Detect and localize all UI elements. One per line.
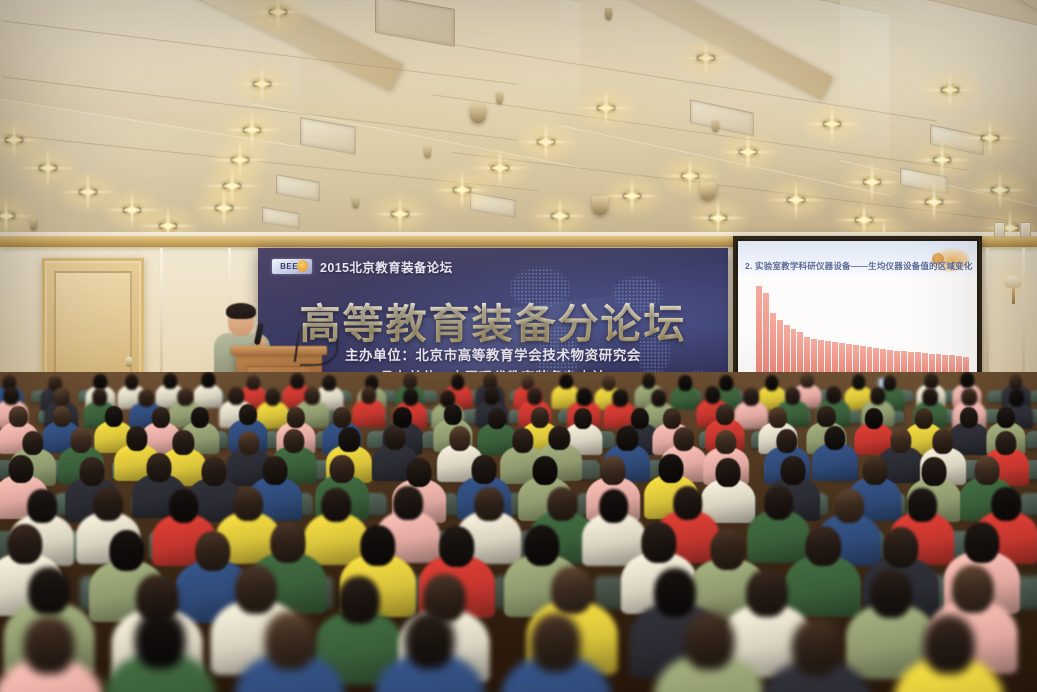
ceiling-vent (276, 174, 320, 202)
audience-member-head (403, 373, 417, 389)
audience-member-head (577, 388, 593, 406)
audience-member-head (964, 522, 999, 563)
audience-member-head (805, 526, 840, 567)
ceiling-sprinkler (424, 146, 431, 158)
audience-member-head (1009, 389, 1025, 407)
audience-member-head (451, 374, 465, 390)
audience-member (895, 615, 1004, 692)
conference-photo-scene: BEEE 2015北京教育装备论坛 高等教育装备分论坛 主办单位：北京市高等教育… (0, 0, 1037, 692)
audience-member-head (163, 373, 177, 389)
audience-member-head (548, 487, 578, 521)
audience-member-head (321, 488, 351, 522)
audience-member-head (746, 569, 788, 618)
audience-member-head (551, 566, 593, 615)
audience-member-head (9, 406, 27, 427)
audience-member-head (862, 456, 887, 485)
chart-bar (791, 329, 797, 377)
audience-member-head (530, 613, 581, 672)
audience-member-head (659, 454, 684, 483)
audience-member-head (870, 387, 886, 405)
audience-member-head (138, 389, 154, 407)
audience-member-head (617, 426, 638, 451)
audience-member-head (235, 565, 277, 614)
audience-member-head (147, 453, 172, 482)
audience-member-head (404, 611, 455, 670)
ceiling-sprinkler (352, 196, 359, 208)
audience-member-head (7, 524, 42, 565)
audience-member-head (651, 389, 667, 407)
ceiling-speaker-dome (592, 196, 608, 215)
audience-member-head (710, 529, 745, 570)
audience-member-head (339, 427, 360, 452)
audience-member (655, 612, 764, 692)
audience-member (501, 613, 610, 692)
audience-member-head (512, 428, 533, 453)
audience-member-head (922, 457, 947, 486)
ceiling-speaker-dome (700, 182, 716, 201)
audience-member-head (890, 428, 911, 453)
ceiling (0, 0, 1037, 250)
audience-member-head (93, 487, 123, 521)
audience-member-head (70, 428, 91, 453)
audience-member-head (974, 456, 999, 485)
audience-member-head (705, 386, 721, 404)
audience-member-head (824, 426, 845, 451)
audience-member-head (932, 429, 953, 454)
audience-area (0, 372, 1037, 692)
audience-member-head (601, 456, 626, 485)
wall-sconce-arm (1012, 288, 1015, 304)
audience-member-head (991, 487, 1021, 521)
audience-member-head (716, 404, 734, 425)
audience-member-head (715, 458, 740, 487)
audience-member-head (785, 387, 801, 405)
audience-member-head (483, 373, 497, 389)
audience-member-head (549, 426, 570, 451)
audience-member-head (612, 389, 628, 407)
audience-member-head (769, 407, 787, 428)
audience-member-head (673, 427, 694, 452)
chart-bar (770, 313, 776, 377)
audience-member-head (135, 611, 186, 670)
banner-event-name: 2015北京教育装备论坛 (320, 257, 453, 276)
audience-member-head (333, 407, 351, 428)
wall-sconce-light (1004, 276, 1022, 288)
audience-member-head (961, 388, 977, 406)
audience-member-head (361, 386, 377, 404)
audience-member-head (104, 406, 122, 427)
door-handle[interactable] (126, 357, 132, 367)
audience-member-head (834, 489, 864, 523)
wall-switch-plate[interactable] (1020, 222, 1031, 237)
audience-member-head (560, 374, 574, 390)
chart-bar (797, 332, 803, 377)
ceiling-sprinkler (605, 8, 612, 20)
audience-member-head (532, 456, 557, 485)
audience-member-head (780, 456, 805, 485)
audience-member-head (924, 615, 975, 674)
audience-member-head (642, 373, 656, 389)
audience-member-head (79, 457, 104, 486)
audience-member-head (109, 530, 144, 571)
audience-member-head (263, 456, 288, 485)
audience-member-head (997, 407, 1015, 428)
audience-member-head (439, 526, 474, 567)
audience-member-head (403, 388, 419, 406)
chart-bar (804, 337, 810, 377)
speaker-glasses-icon (230, 317, 252, 323)
wall-switch-plate[interactable] (994, 222, 1005, 237)
audience-member-head (125, 374, 139, 390)
audience-member-head (484, 387, 500, 405)
audience-member (762, 618, 871, 692)
audience-member-head (3, 387, 19, 405)
audience-member-head (169, 489, 199, 523)
chart-bar (756, 286, 762, 377)
projection-screen: 2. 实验室教学科研仪器设备——生均仪器设备值的区域变化 (738, 241, 977, 389)
audience-member-head (27, 489, 57, 523)
audience-member-head (270, 522, 305, 563)
audience-member-head (53, 388, 69, 406)
audience-member-head (283, 429, 304, 454)
audience-member (0, 616, 104, 692)
audience-member-head (527, 387, 543, 405)
audience-member-head (9, 455, 34, 484)
audience-member-head (924, 373, 938, 389)
audience-member-head (907, 488, 937, 522)
audience-member-head (360, 525, 395, 566)
audience-member-head (870, 569, 912, 618)
audience-member-head (394, 486, 424, 520)
banner-top-row: BEEE 2015北京教育装备论坛 (272, 257, 453, 276)
audience-member-head (384, 426, 405, 451)
audience-member-head (449, 426, 470, 451)
chart-bar (763, 293, 769, 377)
logo-text: BEEE (280, 262, 304, 271)
audience-member-head (883, 527, 918, 568)
ceiling-sprinkler (496, 92, 503, 104)
chart-bar (777, 320, 783, 377)
audience-member-head (228, 387, 244, 405)
audience-member-head (488, 408, 506, 429)
audience-member-head (715, 430, 736, 455)
audience-member-head (28, 567, 70, 616)
audience-member-head (678, 375, 692, 391)
slide-bar-chart (756, 281, 969, 377)
ceiling-vent (470, 192, 516, 218)
audience-member-head (330, 455, 355, 484)
audience-member-head (472, 455, 497, 484)
audience-member-head (684, 612, 735, 671)
audience-member-head (791, 618, 842, 677)
audience-member-head (914, 408, 932, 429)
audience-member-head (776, 429, 797, 454)
audience-member-head (24, 616, 75, 675)
ceiling-sprinkler (30, 218, 37, 230)
audience-member-head (173, 430, 194, 455)
audience-member-head (1009, 374, 1023, 390)
audience-member-head (961, 372, 975, 388)
audience-member-head (53, 406, 71, 427)
audience-member-head (443, 404, 461, 425)
audience-member-head (641, 522, 676, 563)
projection-screen-frame: 2. 实验室教学科研仪器设备——生均仪器设备值的区域变化 (733, 236, 982, 394)
audience-member-head (995, 431, 1016, 456)
audience-member-head (238, 431, 259, 456)
audience-member-head (952, 565, 994, 614)
audience-member-head (92, 388, 108, 406)
audience-member-head (304, 387, 320, 405)
audience-member-head (923, 388, 939, 406)
audience-member (106, 611, 215, 692)
audience-member-head (474, 487, 504, 521)
beee-logo-icon: BEEE (272, 259, 312, 274)
audience-member-head (238, 404, 256, 425)
slide-title-text: 2. 实验室教学科研仪器设备——生均仪器设备值的区域变化 (745, 260, 973, 272)
ceiling-speaker-dome (470, 104, 486, 123)
audience-member-head (524, 525, 559, 566)
audience-member-head (826, 386, 842, 404)
audience-member-head (287, 407, 305, 428)
chart-bar (784, 325, 790, 377)
ceiling-vent (262, 207, 300, 230)
audience-member-head (177, 388, 193, 406)
audience-member-head (673, 486, 703, 520)
ceiling-vent (300, 117, 356, 155)
audience-member-head (126, 426, 147, 451)
audience-member-head (744, 388, 760, 406)
audience-member-head (406, 458, 431, 487)
audience-member-head (654, 568, 696, 617)
audience-member-head (201, 372, 215, 388)
audience-member-head (201, 457, 226, 486)
audience-member-head (233, 487, 263, 521)
audience-member-head (265, 611, 316, 670)
audience-member (236, 611, 345, 692)
audience-member-head (865, 408, 883, 429)
audience-member-head (599, 489, 629, 523)
audience-member-head (764, 486, 794, 520)
audience-member-head (817, 406, 835, 427)
audience-member-head (22, 431, 43, 456)
audience-member-head (960, 407, 978, 428)
ceiling-sprinkler (712, 120, 719, 132)
audience-member-head (191, 407, 209, 428)
audience-member (375, 611, 484, 692)
